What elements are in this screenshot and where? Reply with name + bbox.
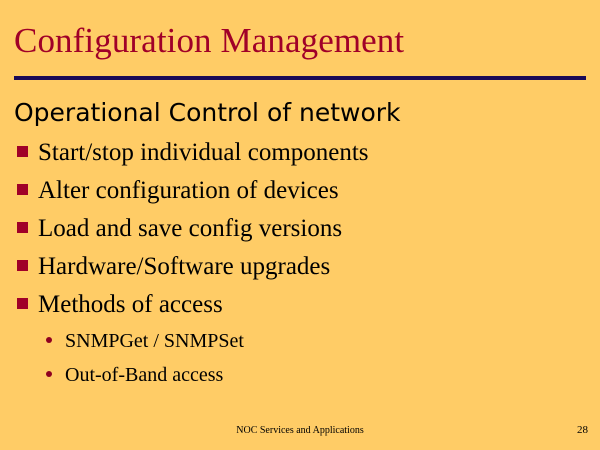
sub-list-item: Out-of-Band access xyxy=(0,362,600,396)
page-number: 28 xyxy=(577,424,588,437)
sub-list-item: SNMPGet / SNMPSet xyxy=(0,328,600,362)
square-bullet-icon xyxy=(17,184,28,195)
square-bullet-icon xyxy=(17,260,28,271)
list-item: Hardware/Software upgrades xyxy=(0,250,600,288)
list-item: Start/stop individual components xyxy=(0,136,600,174)
dot-bullet-icon xyxy=(46,371,52,377)
page-title: Configuration Management xyxy=(14,20,404,62)
list-item-label: Load and save config versions xyxy=(38,215,342,242)
list-item-label: Hardware/Software upgrades xyxy=(38,253,330,280)
sub-list-item-label: Out-of-Band access xyxy=(65,364,223,386)
slide: Configuration Management Operational Con… xyxy=(0,0,600,450)
footer-text: NOC Services and Applications xyxy=(0,424,600,437)
square-bullet-icon xyxy=(17,146,28,157)
sub-bullet-list: SNMPGet / SNMPSet Out-of-Band access xyxy=(0,328,600,396)
list-item-label: Methods of access xyxy=(38,291,223,318)
list-item: Methods of access xyxy=(0,288,600,326)
square-bullet-icon xyxy=(17,298,28,309)
list-item: Alter configuration of devices xyxy=(0,174,600,212)
list-item-label: Start/stop individual components xyxy=(38,139,369,166)
bullet-list: Start/stop individual components Alter c… xyxy=(0,136,600,326)
dot-bullet-icon xyxy=(46,337,52,343)
title-divider xyxy=(14,76,586,80)
sub-list-item-label: SNMPGet / SNMPSet xyxy=(65,330,244,352)
section-heading: Operational Control of network xyxy=(14,98,401,128)
list-item-label: Alter configuration of devices xyxy=(38,177,339,204)
square-bullet-icon xyxy=(17,222,28,233)
list-item: Load and save config versions xyxy=(0,212,600,250)
